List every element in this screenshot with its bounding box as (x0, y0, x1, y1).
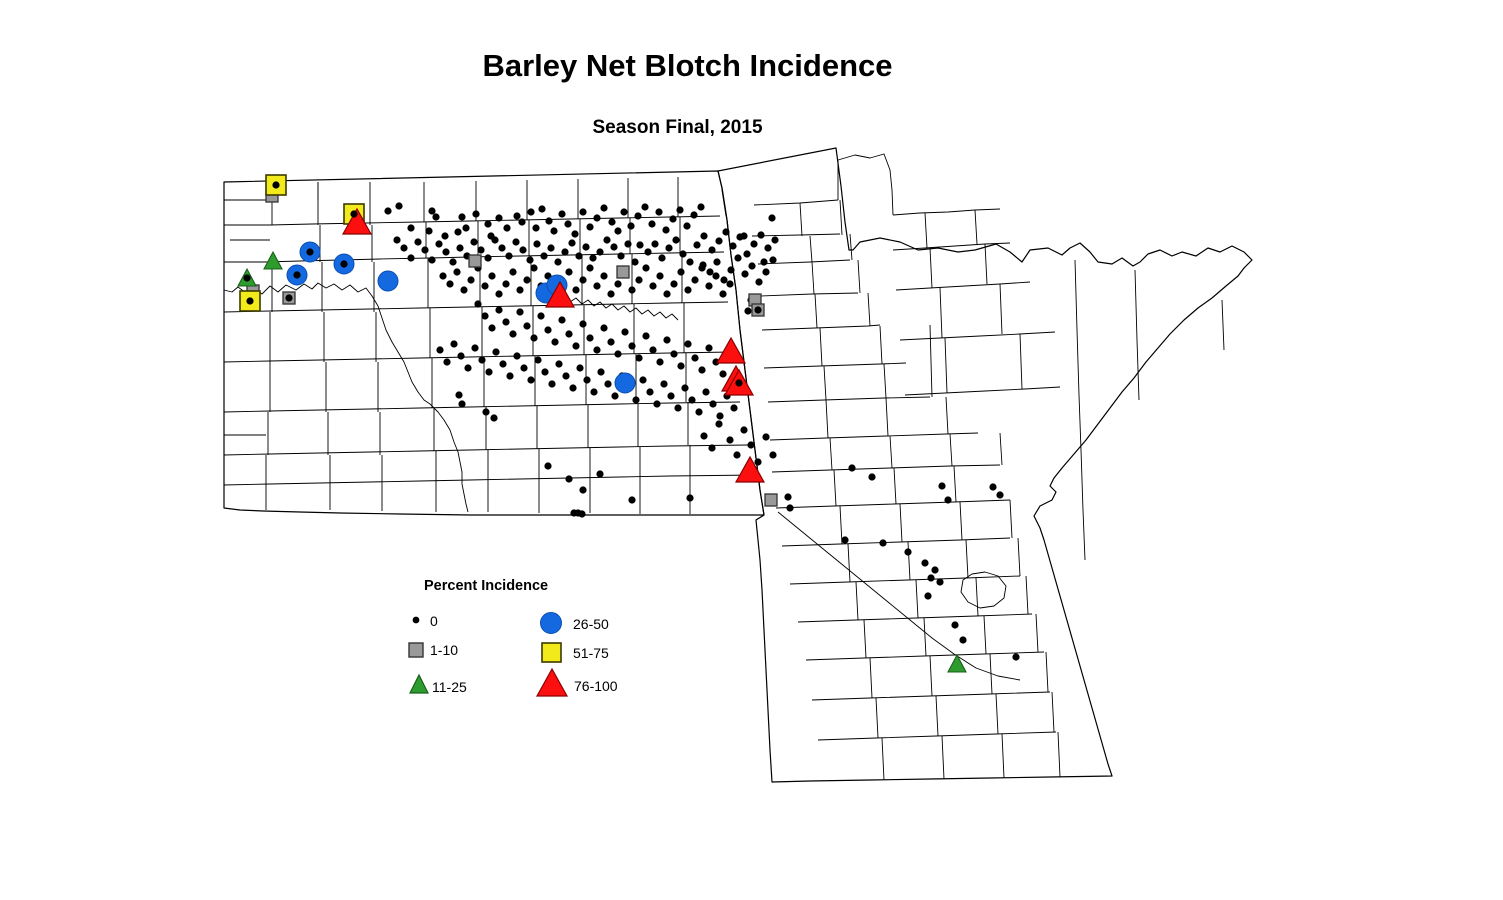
marker-zero (385, 208, 392, 215)
marker-zero-overlay (294, 272, 301, 279)
marker-zero (594, 283, 601, 290)
marker-zero (997, 492, 1004, 499)
legend-label-1-10[interactable]: 1-10 (430, 642, 458, 658)
marker-zero (485, 221, 492, 228)
marker-zero-overlay (244, 275, 251, 282)
marker-1-10 (617, 266, 629, 278)
marker-zero (687, 259, 694, 266)
marker-zero (455, 229, 462, 236)
marker-26-50 (615, 373, 635, 393)
marker-zero (426, 228, 433, 235)
marker-zero (730, 243, 737, 250)
marker-zero (570, 385, 577, 392)
marker-zero (496, 307, 503, 314)
marker-zero (527, 257, 534, 264)
marker-zero (650, 347, 657, 354)
marker-zero-overlay (247, 298, 254, 305)
marker-zero (506, 253, 513, 260)
marker-zero (945, 497, 952, 504)
marker-zero (671, 351, 678, 358)
marker-zero (618, 253, 625, 260)
marker-zero (608, 339, 615, 346)
marker-zero (577, 365, 584, 372)
marker-zero (538, 313, 545, 320)
marker-zero (473, 211, 480, 218)
marker-zero (456, 392, 463, 399)
marker-zero (635, 213, 642, 220)
marker-zero (629, 287, 636, 294)
marker-zero (649, 221, 656, 228)
marker-zero (559, 317, 566, 324)
marker-zero (678, 269, 685, 276)
marker-zero (696, 409, 703, 416)
marker-zero (436, 241, 443, 248)
marker-zero (605, 381, 612, 388)
marker-zero (549, 381, 556, 388)
marker-zero (869, 474, 876, 481)
marker-zero (458, 353, 465, 360)
marker-zero (611, 244, 618, 251)
marker-zero (450, 259, 457, 266)
marker-zero (580, 487, 587, 494)
marker-zero (609, 219, 616, 226)
marker-zero (707, 269, 714, 276)
marker-zero (643, 265, 650, 272)
marker-zero (583, 244, 590, 251)
marker-zero (551, 228, 558, 235)
marker-zero (545, 327, 552, 334)
marker-zero (486, 369, 493, 376)
marker-zero (598, 369, 605, 376)
marker-26-50 (378, 271, 398, 291)
marker-zero (652, 241, 659, 248)
marker-zero (580, 277, 587, 284)
marker-zero (569, 240, 576, 247)
marker-zero (566, 331, 573, 338)
marker-zero (573, 287, 580, 294)
marker-zero (573, 343, 580, 350)
state-boundaries (224, 148, 1252, 782)
marker-zero (621, 209, 628, 216)
marker-zero (591, 389, 598, 396)
marker-zero (675, 405, 682, 412)
marker-zero (572, 231, 579, 238)
low-incidence-markers (247, 190, 777, 506)
marker-zero (701, 233, 708, 240)
legend-symbol-triangle-green (410, 675, 428, 693)
north-dakota-outline (224, 171, 764, 515)
marker-zero (465, 365, 472, 372)
marker-zero (489, 273, 496, 280)
marker-zero (601, 273, 608, 280)
marker-zero (758, 232, 765, 239)
marker-zero (657, 273, 664, 280)
marker-zero (566, 476, 573, 483)
marker-zero (433, 214, 440, 221)
marker-zero (663, 227, 670, 234)
marker-zero (510, 331, 517, 338)
marker-zero (491, 415, 498, 422)
marker-zero (650, 283, 657, 290)
marker-zero (590, 255, 597, 262)
marker-zero (548, 245, 555, 252)
marker-zero (594, 347, 601, 354)
marker-zero (447, 281, 454, 288)
marker-zero (507, 373, 514, 380)
marker-zero (584, 377, 591, 384)
marker-zero (721, 277, 728, 284)
marker-zero (731, 405, 738, 412)
marker-zero (454, 269, 461, 276)
legend-symbol-triangle-red (537, 669, 567, 696)
marker-zero (756, 279, 763, 286)
marker-zero (720, 371, 727, 378)
marker-zero (500, 361, 507, 368)
legend-symbol-dot (413, 617, 419, 623)
marker-zero (587, 224, 594, 231)
marker-zero (709, 247, 716, 254)
marker-zero (485, 255, 492, 262)
marker-zero (741, 233, 748, 240)
marker-zero (524, 277, 531, 284)
marker-zero (785, 494, 792, 501)
marker-zero (457, 245, 464, 252)
marker-zero (604, 237, 611, 244)
marker-zero (597, 471, 604, 478)
marker-zero (422, 247, 429, 254)
mid-incidence-markers (287, 242, 635, 393)
marker-zero (640, 377, 647, 384)
marker-zero-overlay (286, 295, 293, 302)
marker-zero (622, 329, 629, 336)
marker-zero (937, 579, 944, 586)
marker-zero (939, 483, 946, 490)
marker-zero (440, 273, 447, 280)
marker-zero (437, 347, 444, 354)
marker-zero (545, 463, 552, 470)
figure-canvas: Barley Net Blotch Incidence Season Final… (0, 0, 1503, 900)
marker-zero (534, 241, 541, 248)
marker-zero (671, 281, 678, 288)
map-legend: Percent Incidence 0 1-10 11-25 26-50 51-… (409, 578, 618, 696)
marker-zero (692, 355, 699, 362)
marker-zero (514, 353, 521, 360)
marker-zero (478, 247, 485, 254)
marker-zero (629, 497, 636, 504)
marker-zero (713, 273, 720, 280)
marker-zero (706, 345, 713, 352)
marker-zero (396, 203, 403, 210)
marker-zero (541, 253, 548, 260)
marker-zero (657, 359, 664, 366)
marker-zero (769, 215, 776, 222)
marker-zero (552, 339, 559, 346)
marker-zero (645, 249, 652, 256)
marker-zero-overlay (755, 307, 762, 314)
marker-zero (483, 409, 490, 416)
marker-zero (716, 421, 723, 428)
marker-1-10 (469, 255, 481, 267)
marker-zero-overlay (351, 211, 358, 218)
marker-zero (685, 287, 692, 294)
legend-label-76-100[interactable]: 76-100 (574, 678, 618, 694)
marker-zero (629, 343, 636, 350)
marker-zero (514, 213, 521, 220)
marker-zero (659, 255, 666, 262)
marker-zero (472, 345, 479, 352)
legend-title: Percent Incidence (424, 578, 548, 594)
marker-zero (555, 259, 562, 266)
marker-zero (471, 239, 478, 246)
marker-zero (556, 361, 563, 368)
marker-11-25 (948, 655, 966, 672)
marker-zero (520, 247, 527, 254)
marker-zero (698, 204, 705, 211)
marker-zero (493, 349, 500, 356)
marker-zero (673, 237, 680, 244)
marker-zero (761, 259, 768, 266)
marker-zero (636, 277, 643, 284)
marker-zero (559, 211, 566, 218)
marker-zero (748, 442, 755, 449)
marker-zero (880, 540, 887, 547)
marker-zero (763, 269, 770, 276)
marker-zero-overlay (341, 261, 348, 268)
marker-zero (685, 341, 692, 348)
marker-zero (717, 413, 724, 420)
marker-zero (990, 484, 997, 491)
marker-zero (504, 225, 511, 232)
marker-zero (749, 263, 756, 270)
marker-zero (468, 277, 475, 284)
marker-zero (709, 445, 716, 452)
minnesota-counties (752, 154, 1224, 780)
marker-zero (723, 229, 730, 236)
marker-zero (459, 401, 466, 408)
marker-zero (528, 209, 535, 216)
marker-zero (542, 369, 549, 376)
marker-zero (579, 511, 586, 518)
marker-zero (594, 215, 601, 222)
marker-zero (684, 223, 691, 230)
marker-zero (475, 301, 482, 308)
marker-zero (727, 437, 734, 444)
marker-zero (952, 622, 959, 629)
marker-zero-overlay (307, 249, 314, 256)
marker-zero (510, 269, 517, 276)
marker-zero (608, 291, 615, 298)
marker-zero (703, 389, 710, 396)
marker-zero (443, 249, 450, 256)
marker-zero (587, 335, 594, 342)
marker-zero (661, 381, 668, 388)
marker-zero (656, 209, 663, 216)
marker-zero (562, 249, 569, 256)
marker-zero (401, 245, 408, 252)
legend-symbol-square-gray (409, 643, 423, 657)
marker-zero (479, 357, 486, 364)
marker-zero (744, 251, 751, 258)
marker-1-10 (765, 494, 777, 506)
marker-zero (706, 283, 713, 290)
marker-zero (710, 401, 717, 408)
marker-zero (842, 537, 849, 544)
marker-zero (692, 277, 699, 284)
marker-zero-overlay (736, 380, 743, 387)
marker-zero (678, 363, 685, 370)
marker-76-100 (717, 338, 745, 363)
marker-zero (701, 433, 708, 440)
marker-zero (496, 291, 503, 298)
marker-zero (565, 221, 572, 228)
marker-zero (742, 271, 749, 278)
marker-zero (694, 242, 701, 249)
marker-zero (664, 291, 671, 298)
marker-zero (727, 281, 734, 288)
marker-zero (563, 373, 570, 380)
marker-zero (394, 237, 401, 244)
marker-zero (489, 325, 496, 332)
marker-zero (765, 245, 772, 252)
marker-zero (664, 337, 671, 344)
marker-zero (687, 495, 694, 502)
marker-zero (442, 233, 449, 240)
marker-zero (932, 567, 939, 574)
marker-zero (531, 335, 538, 342)
marker-zero (928, 575, 935, 582)
marker-zero (642, 204, 649, 211)
marker-zero (496, 215, 503, 222)
marker-zero (513, 239, 520, 246)
marker-zero (517, 309, 524, 316)
marker-zero (482, 283, 489, 290)
marker-zero (633, 397, 640, 404)
marker-zero (770, 452, 777, 459)
marker-zero (632, 259, 639, 266)
marker-zero (503, 281, 510, 288)
marker-zero (615, 281, 622, 288)
marker-zero (745, 308, 752, 315)
legend-label-26-50[interactable]: 26-50 (573, 616, 609, 632)
marker-zero (647, 389, 654, 396)
marker-zero (668, 393, 675, 400)
marker-zero (628, 223, 635, 230)
marker-zero (1013, 654, 1020, 661)
marker-zero (408, 255, 415, 262)
marker-zero (682, 385, 689, 392)
mid-high-incidence-markers (240, 175, 364, 311)
marker-zero (566, 269, 573, 276)
marker-zero (503, 319, 510, 326)
marker-zero (461, 287, 468, 294)
marker-zero (615, 228, 622, 235)
marker-zero (849, 465, 856, 472)
marker-zero (922, 560, 929, 567)
mid-low-incidence-markers (238, 252, 966, 672)
marker-zero (643, 333, 650, 340)
marker-zero (677, 207, 684, 214)
marker-zero (670, 216, 677, 223)
marker-zero (680, 251, 687, 258)
marker-zero-overlay (273, 182, 280, 189)
marker-zero (533, 225, 540, 232)
marker-zero (787, 505, 794, 512)
marker-zero (636, 355, 643, 362)
marker-zero (714, 259, 721, 266)
marker-zero (499, 245, 506, 252)
marker-zero (597, 249, 604, 256)
marker-11-25 (264, 252, 282, 269)
marker-zero (492, 237, 499, 244)
marker-zero (763, 434, 770, 441)
marker-zero (691, 212, 698, 219)
legend-label-51-75[interactable]: 51-75 (573, 645, 609, 661)
marker-zero (451, 341, 458, 348)
marker-zero (689, 397, 696, 404)
marker-zero (735, 255, 742, 262)
marker-zero (580, 321, 587, 328)
marker-zero (720, 291, 727, 298)
legend-label-0[interactable]: 0 (430, 613, 438, 629)
marker-zero (535, 357, 542, 364)
marker-zero (716, 238, 723, 245)
marker-zero (463, 225, 470, 232)
marker-zero (429, 257, 436, 264)
legend-label-11-25[interactable]: 11-25 (432, 679, 467, 695)
marker-zero (699, 367, 706, 374)
marker-zero (459, 214, 466, 221)
marker-zero (539, 206, 546, 213)
marker-zero (580, 209, 587, 216)
county-boundaries (224, 177, 756, 514)
legend-symbol-circle-blue (541, 613, 562, 634)
marker-zero (482, 313, 489, 320)
marker-zero (741, 427, 748, 434)
marker-zero (415, 239, 422, 246)
map-container[interactable]: Percent Incidence 0 1-10 11-25 26-50 51-… (0, 0, 1503, 900)
marker-zero (546, 218, 553, 225)
marker-zero (408, 225, 415, 232)
marker-zero (601, 205, 608, 212)
marker-zero (587, 265, 594, 272)
marker-zero (615, 351, 622, 358)
marker-zero (755, 459, 762, 466)
marker-zero (576, 253, 583, 260)
marker-zero (751, 241, 758, 248)
marker-zero (734, 452, 741, 459)
marker-zero (528, 377, 535, 384)
marker-zero (637, 242, 644, 249)
marker-zero (517, 287, 524, 294)
marker-zero (772, 237, 779, 244)
marker-zero (521, 365, 528, 372)
marker-zero (960, 637, 967, 644)
marker-zero (925, 593, 932, 600)
minnesota-river (778, 512, 1020, 680)
marker-zero (612, 393, 619, 400)
marker-zero (601, 325, 608, 332)
marker-zero (524, 323, 531, 330)
marker-zero (770, 257, 777, 264)
marker-zero (625, 241, 632, 248)
marker-zero (444, 359, 451, 366)
marker-zero (666, 245, 673, 252)
marker-zero (429, 208, 436, 215)
legend-symbol-square-yellow (542, 643, 561, 662)
marker-zero (531, 265, 538, 272)
marker-zero (728, 267, 735, 274)
marker-zero (905, 549, 912, 556)
